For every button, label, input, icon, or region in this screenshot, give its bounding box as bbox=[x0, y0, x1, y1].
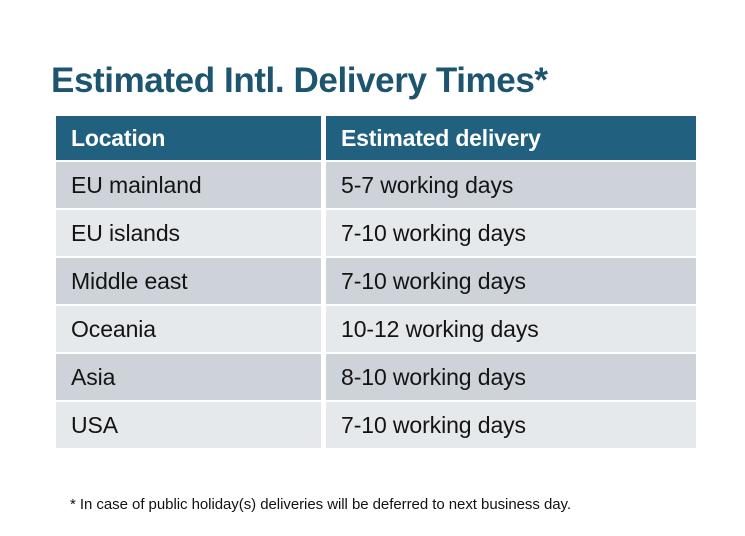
table-row: USA 7-10 working days bbox=[56, 402, 696, 448]
delivery-times-page: Estimated Intl. Delivery Times* Location… bbox=[0, 0, 745, 536]
cell-location: Asia bbox=[56, 354, 321, 400]
table-header: Location Estimated delivery bbox=[56, 116, 696, 160]
table-row: Middle east 7-10 working days bbox=[56, 258, 696, 304]
column-header-location: Location bbox=[56, 116, 321, 160]
cell-location: EU islands bbox=[56, 210, 321, 256]
table-row: EU mainland 5-7 working days bbox=[56, 162, 696, 208]
cell-delivery: 8-10 working days bbox=[326, 354, 696, 400]
table-row: EU islands 7-10 working days bbox=[56, 210, 696, 256]
cell-location: USA bbox=[56, 402, 321, 448]
cell-delivery: 7-10 working days bbox=[326, 258, 696, 304]
delivery-times-table: Location Estimated delivery EU mainland … bbox=[51, 114, 701, 450]
cell-location: EU mainland bbox=[56, 162, 321, 208]
column-header-delivery: Estimated delivery bbox=[326, 116, 696, 160]
footnote: * In case of public holiday(s) deliverie… bbox=[70, 495, 571, 515]
cell-location: Oceania bbox=[56, 306, 321, 352]
cell-delivery: 7-10 working days bbox=[326, 210, 696, 256]
cell-location: Middle east bbox=[56, 258, 321, 304]
table-body: EU mainland 5-7 working days EU islands … bbox=[56, 162, 696, 448]
cell-delivery: 7-10 working days bbox=[326, 402, 696, 448]
page-title: Estimated Intl. Delivery Times* bbox=[51, 59, 548, 103]
cell-delivery: 5-7 working days bbox=[326, 162, 696, 208]
cell-delivery: 10-12 working days bbox=[326, 306, 696, 352]
table-row: Asia 8-10 working days bbox=[56, 354, 696, 400]
table-row: Oceania 10-12 working days bbox=[56, 306, 696, 352]
table-header-row: Location Estimated delivery bbox=[56, 116, 696, 160]
